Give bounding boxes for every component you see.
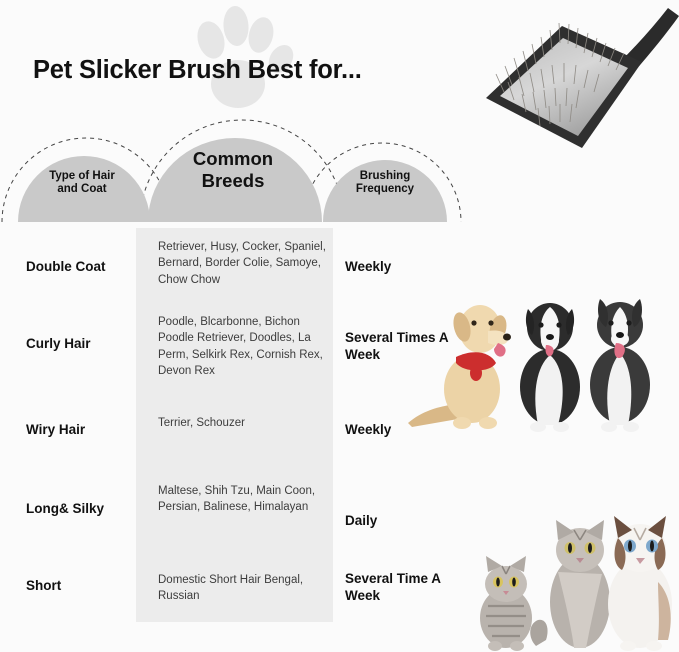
header-common-breeds: Common Breeds <box>148 148 318 191</box>
header-type-of-hair: Type of Hair and Coat <box>12 170 152 197</box>
row-breeds: Terrier, Schouzer <box>158 415 333 431</box>
border-collie <box>520 303 580 432</box>
row-frequency: Daily <box>345 513 470 530</box>
row-type: Curly Hair <box>26 336 91 351</box>
header-breeds-line2: Breeds <box>148 170 318 192</box>
table-row: Long& Silky Maltese, Shih Tzu, Main Coon… <box>0 465 470 550</box>
header-type-line2: and Coat <box>12 183 152 196</box>
three-cats-photo <box>462 512 679 652</box>
table-row: Short Domestic Short Hair Bengal, Russia… <box>0 550 470 622</box>
row-type: Double Coat <box>26 259 106 274</box>
fluffy-grey-cat <box>530 520 610 648</box>
pet-slicker-brush-infographic: Pet Slicker Brush Best for... Type of Ha… <box>0 0 679 652</box>
header-freq-line1: Brushing <box>320 170 450 183</box>
husky-puppy <box>590 299 650 432</box>
row-breeds: Retriever, Husy, Cocker, Spaniel, Bernar… <box>158 239 333 288</box>
header-breeds-line1: Common <box>148 148 318 170</box>
row-type: Short <box>26 578 61 593</box>
three-dogs-photo <box>398 283 679 435</box>
row-breeds: Domestic Short Hair Bengal, Russian <box>158 572 333 605</box>
header-type-line1: Type of Hair <box>12 170 152 183</box>
page-title: Pet Slicker Brush Best for... <box>33 56 362 85</box>
header-brushing-frequency: Brushing Frequency <box>320 170 450 197</box>
row-type: Wiry Hair <box>26 422 85 437</box>
row-frequency: Several Time A Week <box>345 571 470 605</box>
row-breeds: Maltese, Shih Tzu, Main Coon, Persian, B… <box>158 483 333 516</box>
ragdoll-cat <box>608 516 672 651</box>
golden-retriever <box>408 305 511 429</box>
header-freq-line2: Frequency <box>320 183 450 196</box>
row-frequency: Weekly <box>345 259 470 276</box>
slicker-brush-photo <box>470 0 679 155</box>
row-type: Long& Silky <box>26 501 104 516</box>
tabby-cat <box>480 556 532 651</box>
row-breeds: Poodle, Blcarbonne, Bichon Poodle Retrie… <box>158 314 333 379</box>
